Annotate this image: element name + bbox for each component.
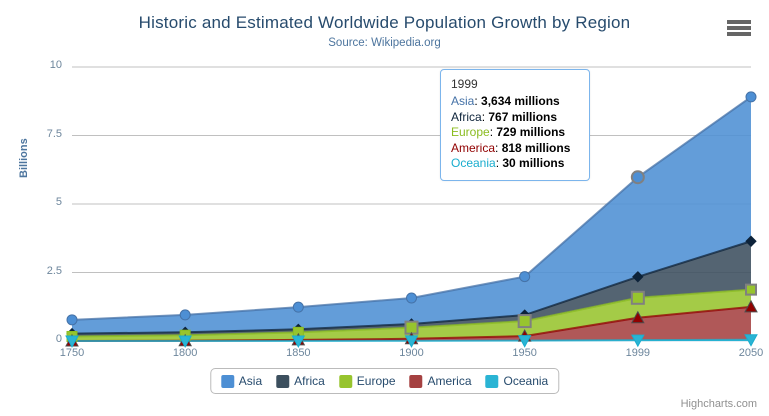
marker-asia[interactable] — [520, 272, 530, 282]
legend-swatch-america — [410, 375, 423, 388]
x-tick-label: 1950 — [495, 347, 555, 359]
tooltip-series-value: 30 millions — [502, 156, 564, 170]
tooltip-row: Asia: 3,634 millions — [451, 94, 579, 110]
y-tick-label: 7.5 — [22, 128, 62, 140]
legend-item-africa[interactable]: Africa — [276, 374, 325, 388]
chart-container: Historic and Estimated Worldwide Populat… — [0, 0, 769, 416]
marker-europe[interactable] — [519, 315, 531, 327]
x-tick-label: 1750 — [42, 347, 102, 359]
y-tick-label: 2.5 — [22, 265, 62, 277]
chart-legend[interactable]: AsiaAfricaEuropeAmericaOceania — [210, 368, 559, 394]
y-tick-label: 5 — [22, 196, 62, 208]
legend-label: Asia — [239, 374, 262, 388]
credits-watermark[interactable]: Highcharts.com — [681, 398, 757, 410]
tooltip-series-name: Africa — [451, 110, 482, 124]
legend-swatch-europe — [339, 375, 352, 388]
tooltip-series-value: 729 millions — [496, 125, 565, 139]
marker-asia[interactable] — [67, 315, 77, 325]
series-areas — [72, 97, 751, 341]
legend-label: Europe — [357, 374, 396, 388]
tooltip-row: America: 818 millions — [451, 141, 579, 157]
marker-asia[interactable] — [632, 171, 644, 183]
tooltip-series-name: Asia — [451, 94, 474, 108]
tooltip-series-value: 767 millions — [488, 110, 557, 124]
x-tick-label: 2050 — [721, 347, 769, 359]
tooltip-series-value: 818 millions — [502, 141, 571, 155]
y-tick-label: 0 — [22, 333, 62, 345]
tooltip-series-name: America — [451, 141, 495, 155]
legend-item-oceania[interactable]: Oceania — [486, 374, 549, 388]
marker-asia[interactable] — [746, 92, 756, 102]
tooltip-row: Europe: 729 millions — [451, 125, 579, 141]
tooltip-header: 1999 — [451, 77, 579, 91]
legend-item-europe[interactable]: Europe — [339, 374, 396, 388]
legend-swatch-africa — [276, 375, 289, 388]
marker-europe[interactable] — [746, 285, 756, 295]
x-tick-label: 1900 — [382, 347, 442, 359]
x-tick-label: 1800 — [155, 347, 215, 359]
x-tick-label: 1850 — [268, 347, 328, 359]
tooltip-series-name: Europe — [451, 125, 490, 139]
legend-swatch-oceania — [486, 375, 499, 388]
legend-item-america[interactable]: America — [410, 374, 472, 388]
tooltip-series-value: 3,634 millions — [481, 94, 560, 108]
marker-asia[interactable] — [180, 310, 190, 320]
legend-swatch-asia — [221, 375, 234, 388]
chart-tooltip: 1999 Asia: 3,634 millionsAfrica: 767 mil… — [440, 69, 590, 181]
y-axis-title: Billions — [18, 138, 30, 178]
legend-label: America — [428, 374, 472, 388]
legend-label: Oceania — [504, 374, 549, 388]
marker-asia[interactable] — [293, 302, 303, 312]
legend-label: Africa — [294, 374, 325, 388]
marker-europe[interactable] — [632, 292, 644, 304]
marker-asia[interactable] — [407, 293, 417, 303]
tooltip-row: Africa: 767 millions — [451, 110, 579, 126]
y-tick-label: 10 — [22, 59, 62, 71]
x-tick-label: 1999 — [608, 347, 668, 359]
tooltip-rows: Asia: 3,634 millionsAfrica: 767 millions… — [451, 94, 579, 172]
tooltip-row: Oceania: 30 millions — [451, 156, 579, 172]
tooltip-series-name: Oceania — [451, 156, 496, 170]
legend-item-asia[interactable]: Asia — [221, 374, 262, 388]
